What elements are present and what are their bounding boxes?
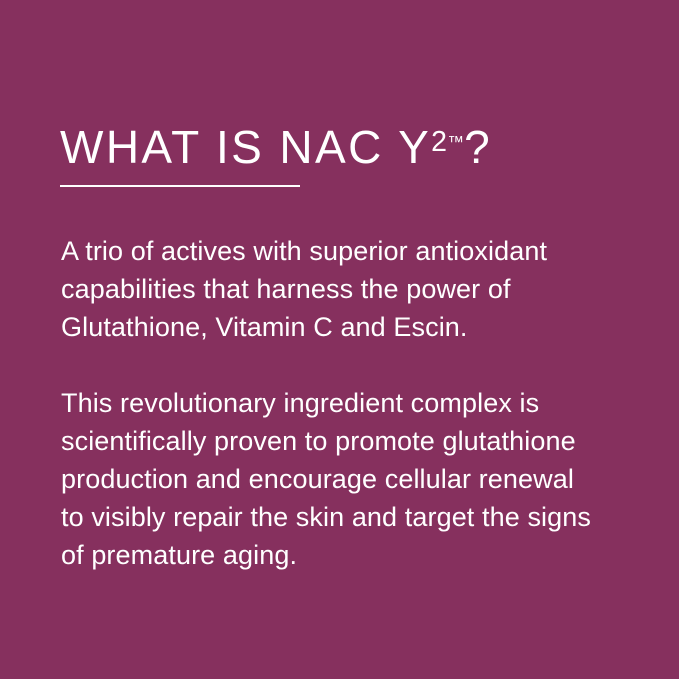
body-line: capabilities that harness the power of <box>61 270 641 308</box>
body-line: Glutathione, Vitamin C and Escin. <box>61 308 641 346</box>
body-line: to visibly repair the skin and target th… <box>61 498 641 536</box>
body-line: of premature aging. <box>61 536 641 574</box>
body-copy: A trio of actives with superior antioxid… <box>61 232 641 574</box>
body-line: scientifically proven to promote glutath… <box>61 422 641 460</box>
page-title-superscript-number: 2 <box>431 126 447 158</box>
body-line: This revolutionary ingredient complex is <box>61 384 641 422</box>
page-title-suffix: ? <box>464 121 490 173</box>
heading-divider <box>60 185 300 187</box>
heading-block: WHAT IS NAC Y2™? <box>60 118 660 171</box>
product-info-panel: WHAT IS NAC Y2™? A trio of actives with … <box>0 0 679 679</box>
page-title: WHAT IS NAC Y2™? <box>60 118 660 171</box>
body-line: A trio of actives with superior antioxid… <box>61 232 641 270</box>
page-title-prefix: WHAT IS NAC Y <box>60 121 431 173</box>
body-paragraph-trio-of-actives: A trio of actives with superior antioxid… <box>61 232 641 346</box>
body-paragraph-revolutionary-complex: This revolutionary ingredient complex is… <box>61 384 641 574</box>
body-line: production and encourage cellular renewa… <box>61 460 641 498</box>
trademark-icon: ™ <box>448 132 465 151</box>
